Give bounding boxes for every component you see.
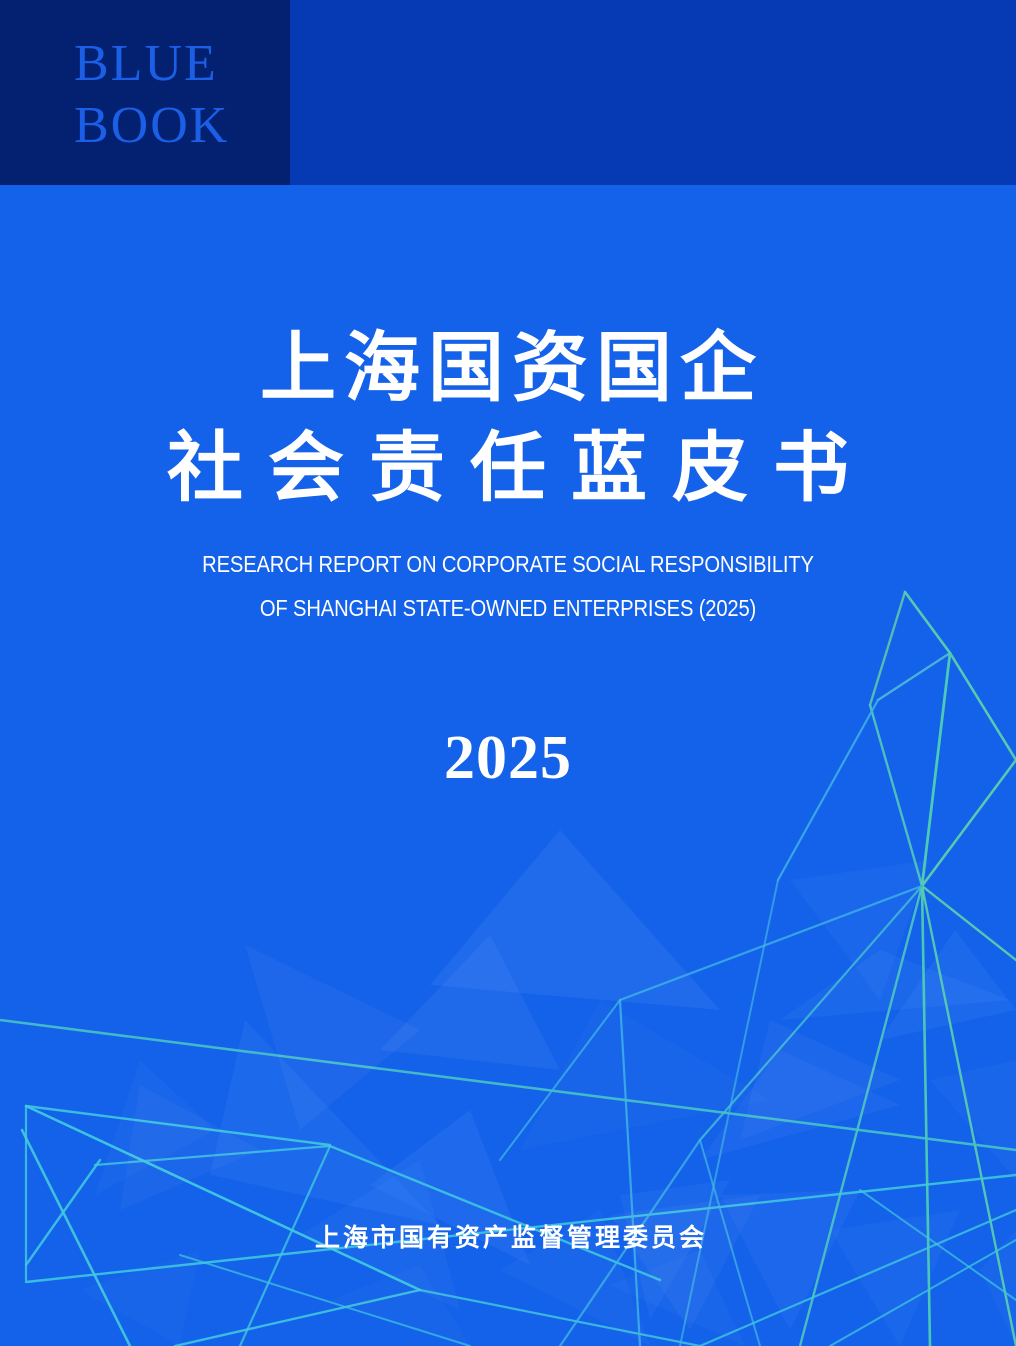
subtitle-line-2: OF SHANGHAI STATE-OWNED ENTERPRISES (202… (71, 597, 945, 621)
cover-subtitle: RESEARCH REPORT ON CORPORATE SOCIAL RESP… (0, 553, 1016, 620)
title-line-1: 上海国资国企 (0, 330, 1016, 406)
publisher-name: 上海市国有资产监督管理委员会 (0, 1225, 1016, 1250)
book-cover: BLUE BOOK 上海国资国企 社会责任蓝皮书 RESEARCH REPORT… (0, 0, 1016, 1346)
subtitle-line-1: RESEARCH REPORT ON CORPORATE SOCIAL RESP… (71, 553, 945, 577)
bluebook-line-2: BOOK (74, 100, 229, 152)
bluebook-badge: BLUE BOOK (0, 0, 290, 185)
cover-title: 上海国资国企 社会责任蓝皮书 (0, 330, 1016, 506)
cover-year: 2025 (0, 727, 1016, 789)
title-line-2: 社会责任蓝皮书 (0, 430, 1016, 506)
bluebook-line-1: BLUE (74, 38, 218, 90)
cover-background (0, 0, 1016, 1346)
